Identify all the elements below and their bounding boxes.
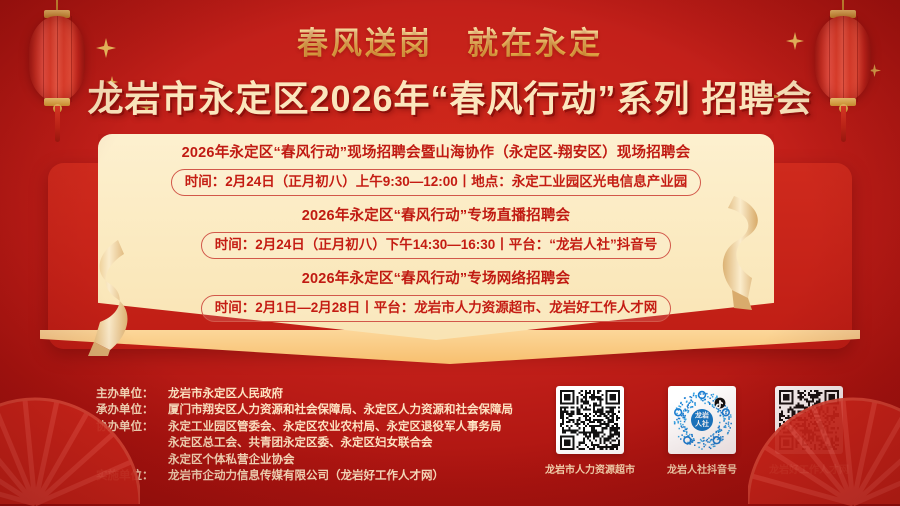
- event-block: 2026年永定区“春风行动”现场招聘会暨山海协作（永定区-翔安区）现场招聘会 时…: [171, 145, 702, 196]
- qr-code-item[interactable]: 龙岩 人社 龙岩人社抖音号: [667, 386, 737, 476]
- events-list: 2026年永定区“春风行动”现场招聘会暨山海协作（永定区-翔安区）现场招聘会 时…: [98, 134, 774, 340]
- organizer-value: 龙岩市永定区人民政府: [168, 386, 516, 402]
- event-detail: 时间：2月24日（正月初八）下午14:30—16:30丨平台：“龙岩人社”抖音号: [201, 232, 672, 259]
- organizer-row: 协办单位： 永定区总工会、共青团永定区委、永定区妇女联合会: [96, 435, 516, 451]
- event-detail: 时间：2月1日—2月28日丨平台：龙岩市人力资源超市、龙岩好工作人才网: [201, 295, 672, 322]
- poster-tagline: 春风送岗 就在永定: [0, 18, 900, 63]
- svg-text:人社: 人社: [695, 419, 709, 428]
- qr-code-image[interactable]: [556, 386, 624, 454]
- organizer-label: 实施单位：: [96, 468, 168, 484]
- qr-code-image[interactable]: [775, 386, 843, 454]
- qr-code-caption: 龙岩人社抖音号: [667, 461, 737, 476]
- organizer-value: 永定区总工会、共青团永定区委、永定区妇女联合会: [168, 435, 516, 451]
- page-title: 龙岩市永定区2026年“春风行动”系列 招聘会: [0, 70, 900, 122]
- event-title: 2026年永定区“春风行动”现场招聘会暨山海协作（永定区-翔安区）现场招聘会: [182, 145, 691, 162]
- qr-code-item[interactable]: 龙岩好工作人才网: [769, 386, 849, 476]
- organizer-row: 协办单位： 永定区个体私营企业协会: [96, 452, 516, 468]
- organizer-label: 协办单位：: [96, 419, 168, 435]
- organizer-value: 龙岩市企动力信息传媒有限公司（龙岩好工作人才网）: [168, 468, 516, 484]
- organizer-row: 主办单位： 龙岩市永定区人民政府: [96, 386, 516, 402]
- svg-text:龙岩: 龙岩: [694, 411, 709, 420]
- organizer-label: 主办单位：: [96, 386, 168, 402]
- qr-code-image[interactable]: 龙岩 人社: [668, 386, 736, 454]
- qr-code-group: 龙岩市人力资源超市 龙岩 人社 龙岩人社抖音号 龙岩好工作人才网: [545, 386, 849, 476]
- qr-code-caption: 龙岩好工作人才网: [769, 461, 849, 476]
- organizer-value: 永定工业园区管委会、永定区农业农村局、永定区退役军人事务局: [168, 419, 516, 435]
- organizer-label: 承办单位：: [96, 402, 168, 418]
- event-title: 2026年永定区“春风行动”专场网络招聘会: [302, 271, 570, 288]
- organizer-value: 永定区个体私营企业协会: [168, 452, 516, 468]
- event-detail: 时间：2月24日（正月初八）上午9:30—12:00丨地点：永定工业园区光电信息…: [171, 169, 702, 196]
- organizer-row: 协办单位： 永定工业园区管委会、永定区农业农村局、永定区退役军人事务局: [96, 419, 516, 435]
- organizer-row: 承办单位： 厦门市翔安区人力资源和社会保障局、永定区人力资源和社会保障局: [96, 402, 516, 418]
- organizers-block: 主办单位： 龙岩市永定区人民政府 承办单位： 厦门市翔安区人力资源和社会保障局、…: [96, 386, 516, 484]
- organizer-value: 厦门市翔安区人力资源和社会保障局、永定区人力资源和社会保障局: [168, 402, 516, 418]
- event-block: 2026年永定区“春风行动”专场网络招聘会 时间：2月1日—2月28日丨平台：龙…: [201, 271, 672, 322]
- organizer-row: 实施单位： 龙岩市企动力信息传媒有限公司（龙岩好工作人才网）: [96, 468, 516, 484]
- qr-code-item[interactable]: 龙岩市人力资源超市: [545, 386, 635, 476]
- poster-root: 春风送岗 就在永定 龙岩市永定区2026年“春风行动”系列 招聘会: [0, 0, 900, 506]
- event-title: 2026年永定区“春风行动”专场直播招聘会: [302, 208, 570, 225]
- qr-code-caption: 龙岩市人力资源超市: [545, 461, 635, 476]
- event-block: 2026年永定区“春风行动”专场直播招聘会 时间：2月24日（正月初八）下午14…: [201, 208, 672, 259]
